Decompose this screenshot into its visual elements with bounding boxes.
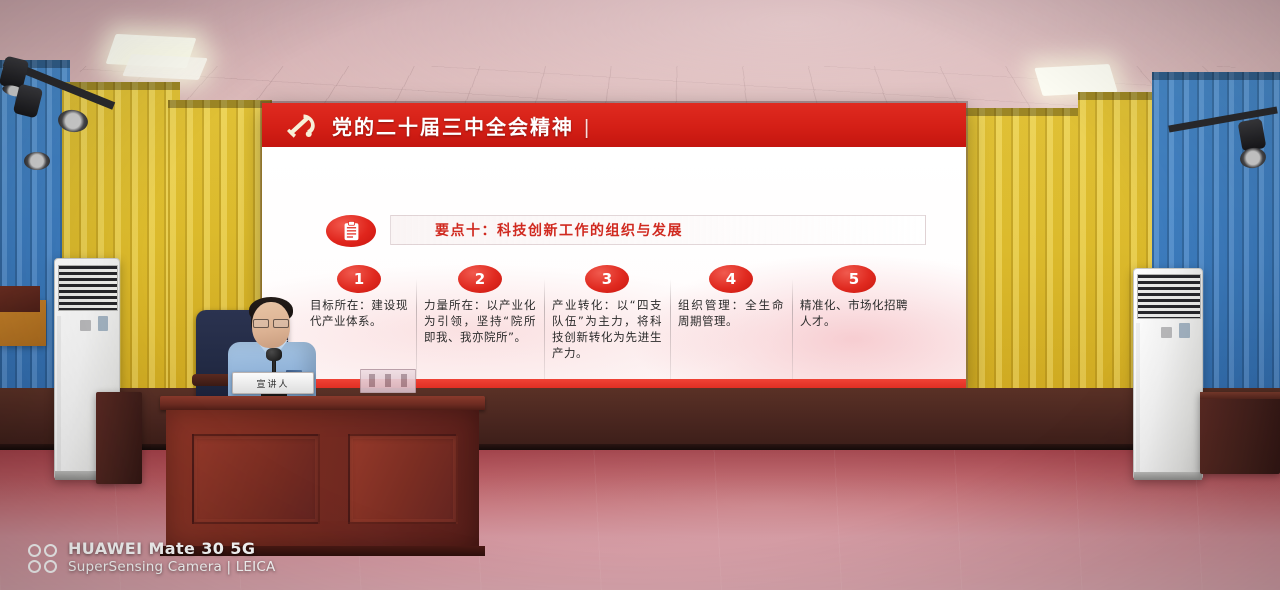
photo-scene: 党的二十届三中全会精神| [0,0,1280,590]
slide-point-header: 要点十：科技创新工作的组织与发展 [326,215,926,247]
stage-light-rig-right [1220,110,1280,190]
cpc-hammer-sickle-emblem [284,112,320,138]
led-presentation-screen: 党的二十届三中全会精神| [262,103,966,393]
watermark-camera-name: SuperSensing Camera | LEICA [68,558,275,576]
slide-column-4: 4 组织管理：全生命周期管理。 [670,265,792,385]
slide-columns: 1 目标所在：建设现代产业体系。 2 力量所在：以产业化为引领，坚持“院所即我、… [302,265,932,385]
column-number-2: 2 [475,270,485,288]
microphone-head [266,348,282,361]
column-number-5: 5 [849,270,859,288]
slide-body: 要点十：科技创新工作的组织与发展 1 目标所在：建设现代产业体系。 2 [262,147,966,393]
column-number-badge-1: 1 [337,265,381,293]
slide-title: 党的二十届三中全会精神| [332,111,591,140]
podium-lectern [160,396,485,548]
clipboard-icon [326,215,376,247]
column-text-2: 力量所在：以产业化为引领，坚持“院所即我、我亦院所”。 [424,297,536,345]
column-number-4: 4 [726,270,736,288]
slide-column-5: 5 精准化、市场化招聘人才。 [792,265,916,385]
column-text-4: 组织管理：全生命周期管理。 [678,297,784,329]
side-prop-left-dark [0,286,40,312]
ac-right-grille [1137,274,1201,318]
column-number-badge-3: 3 [585,265,629,293]
column-number-badge-4: 4 [709,265,753,293]
speaker-nameplate-text: 宣讲人 [256,377,289,390]
podium-top-surface [160,396,485,410]
slide-title-text: 党的二十届三中全会精神 [332,117,574,139]
ac-right-display-panel[interactable] [1179,323,1190,338]
camera-watermark: HUAWEI Mate 30 5G SuperSensing Camera | … [28,540,275,576]
column-text-3: 产业转化：以“四支队伍”为主力，将科技创新转化为先进生产力。 [552,297,662,361]
column-number-badge-2: 2 [458,265,502,293]
ac-left-display-panel[interactable] [98,316,109,332]
column-number-badge-5: 5 [832,265,876,293]
podium-panel-right [348,434,458,524]
slide-column-2: 2 力量所在：以产业化为引领，坚持“院所即我、我亦院所”。 [416,265,544,385]
column-text-5: 精准化、市场化招聘人才。 [800,297,908,329]
eyeglasses [253,319,289,326]
secondary-nameplate [360,369,416,393]
watermark-device-name: HUAWEI Mate 30 5G [68,540,275,558]
stage-light-rig-left [0,28,120,148]
air-conditioner-right [1133,268,1203,480]
podium-front-face [166,410,479,548]
ac-left-logo [80,320,91,331]
ac-left-grille [58,265,118,311]
ceiling-panel-light-2 [122,54,208,80]
slide-title-divider: | [584,117,591,139]
column-number-1: 1 [354,270,364,288]
slide-column-3: 3 产业转化：以“四支队伍”为主力，将科技创新转化为先进生产力。 [544,265,670,385]
stage-light-left-c-lens [57,108,90,134]
podium-panel-left [192,434,320,524]
huawei-logo-icon [28,544,57,573]
side-box-right [1200,392,1280,474]
speaker-nameplate: 宣讲人 [232,372,314,394]
point-title-text: 要点十：科技创新工作的组织与发展 [435,220,683,240]
point-title-box: 要点十：科技创新工作的组织与发展 [390,215,926,245]
slide-header-bar: 党的二十届三中全会精神| [262,103,966,147]
ac-right-logo [1161,327,1172,338]
stage-light-right-a [1238,118,1267,152]
stage-light-left-d-lens [24,152,50,170]
column-number-3: 3 [602,270,612,288]
side-box-left [96,392,142,484]
